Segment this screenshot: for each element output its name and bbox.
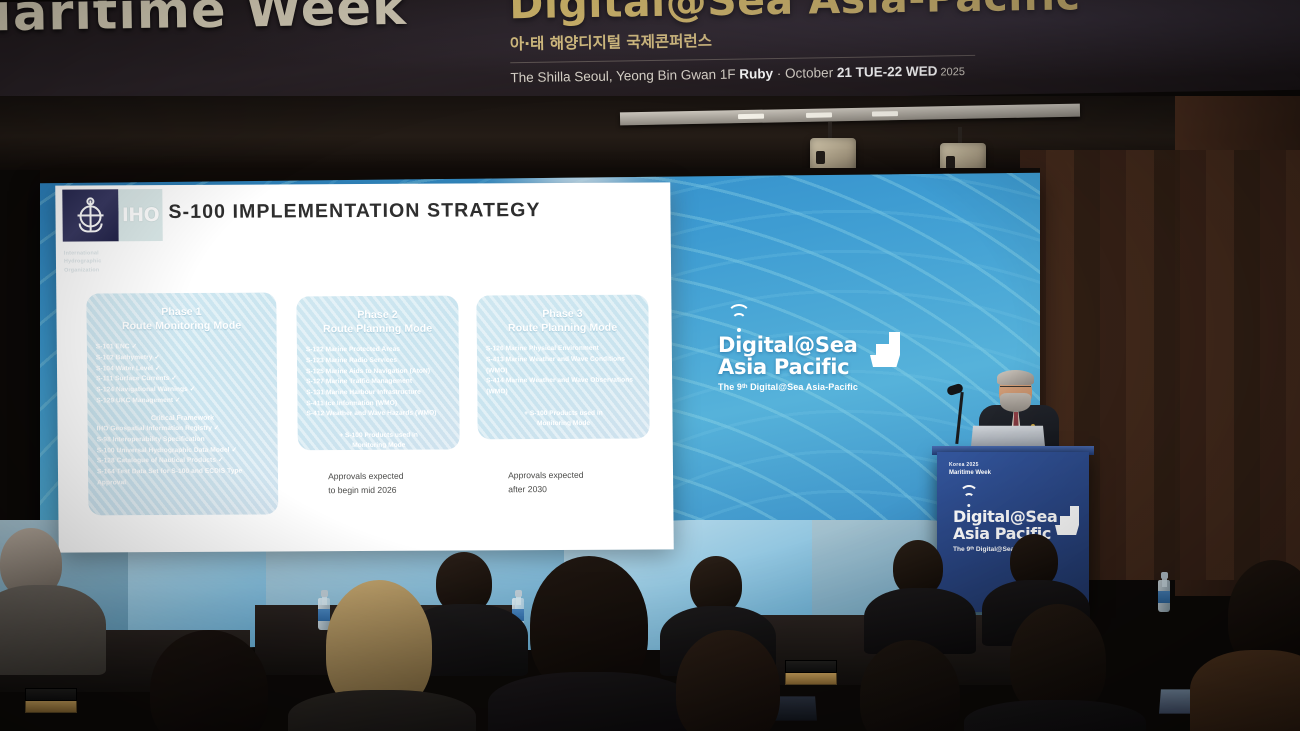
conference-photo: Maritime Week Digital@Sea Asia-Pacific 아… xyxy=(0,0,1300,731)
photo-vignette xyxy=(0,0,1300,731)
